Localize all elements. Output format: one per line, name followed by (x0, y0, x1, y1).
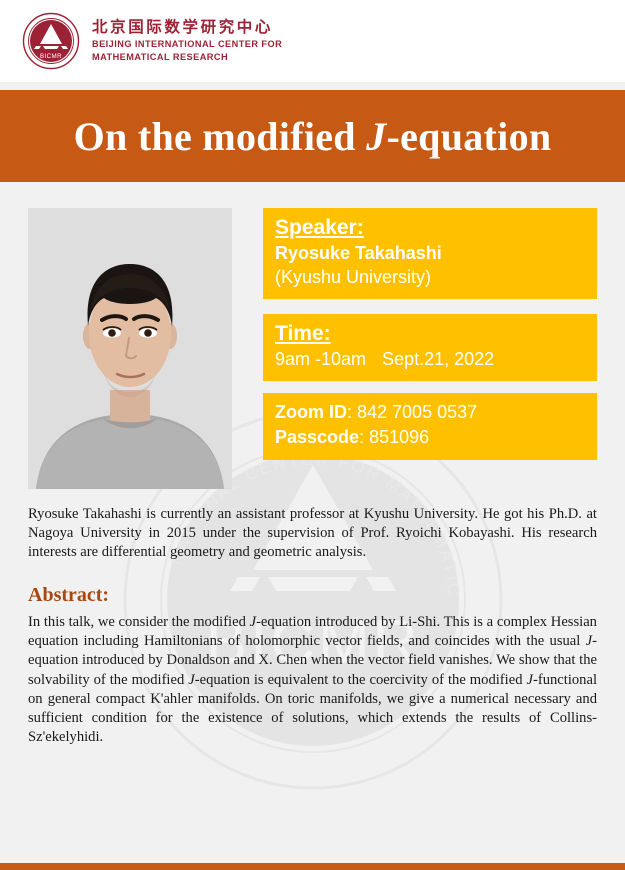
page-title: On the modified J-equation (74, 113, 552, 160)
zoom-passcode-row: Passcode: 851096 (275, 425, 585, 451)
main-content: Speaker: Ryosuke Takahashi (Kyushu Unive… (0, 208, 625, 748)
title-banner: On the modified J-equation (0, 90, 625, 182)
org-name-english-line1: BEIJING INTERNATIONAL CENTER FOR (92, 39, 282, 50)
speaker-affiliation: (Kyushu University) (275, 266, 585, 290)
svg-text:BICMR: BICMR (40, 53, 62, 60)
abstract-part4: -equation is equivalent to the coercivit… (195, 672, 527, 688)
time-info-box: Time: 9am -10amSept.21, 2022 (263, 314, 597, 381)
passcode-value: : 851096 (359, 427, 429, 447)
abstract-heading: Abstract: (28, 584, 597, 607)
bicmr-seal-logo-icon: BICMR 北京国际数学研究中心 (22, 12, 80, 70)
zoom-id-row: Zoom ID: 842 7005 0537 (275, 400, 585, 426)
speaker-row: Speaker: Ryosuke Takahashi (Kyushu Unive… (28, 208, 597, 489)
speaker-label: Speaker: (275, 215, 364, 242)
abstract-body: In this talk, we consider the modified J… (28, 613, 597, 748)
title-suffix: -equation (386, 114, 551, 159)
time-date: Sept.21, 2022 (382, 349, 494, 369)
speaker-name: Ryosuke Takahashi (275, 242, 585, 266)
title-italic-j: J (366, 114, 386, 159)
org-name-chinese: 北京国际数学研究中心 (92, 19, 282, 37)
time-value: 9am -10amSept.21, 2022 (275, 348, 585, 372)
info-boxes: Speaker: Ryosuke Takahashi (Kyushu Unive… (263, 208, 597, 460)
organization-names: 北京国际数学研究中心 BEIJING INTERNATIONAL CENTER … (92, 19, 282, 63)
time-label: Time: (275, 321, 331, 348)
zoom-info-box: Zoom ID: 842 7005 0537 Passcode: 851096 (263, 393, 597, 460)
org-name-english-line2: MATHEMATICAL RESEARCH (92, 52, 282, 63)
time-hours: 9am -10am (275, 349, 366, 369)
speaker-info-box: Speaker: Ryosuke Takahashi (Kyushu Unive… (263, 208, 597, 299)
speaker-bio: Ryosuke Takahashi is currently an assist… (28, 505, 597, 562)
zoom-id-label: Zoom ID (275, 402, 347, 422)
title-prefix: On the modified (74, 114, 367, 159)
abstract-part1: In this talk, we consider the modified (28, 614, 250, 630)
passcode-label: Passcode (275, 427, 359, 447)
footer-bar (0, 863, 625, 870)
speaker-photo (28, 208, 232, 489)
zoom-id-value: : 842 7005 0537 (347, 402, 477, 422)
page-header: BICMR 北京国际数学研究中心 北京国际数学研究中心 BEIJING INTE… (0, 0, 625, 82)
